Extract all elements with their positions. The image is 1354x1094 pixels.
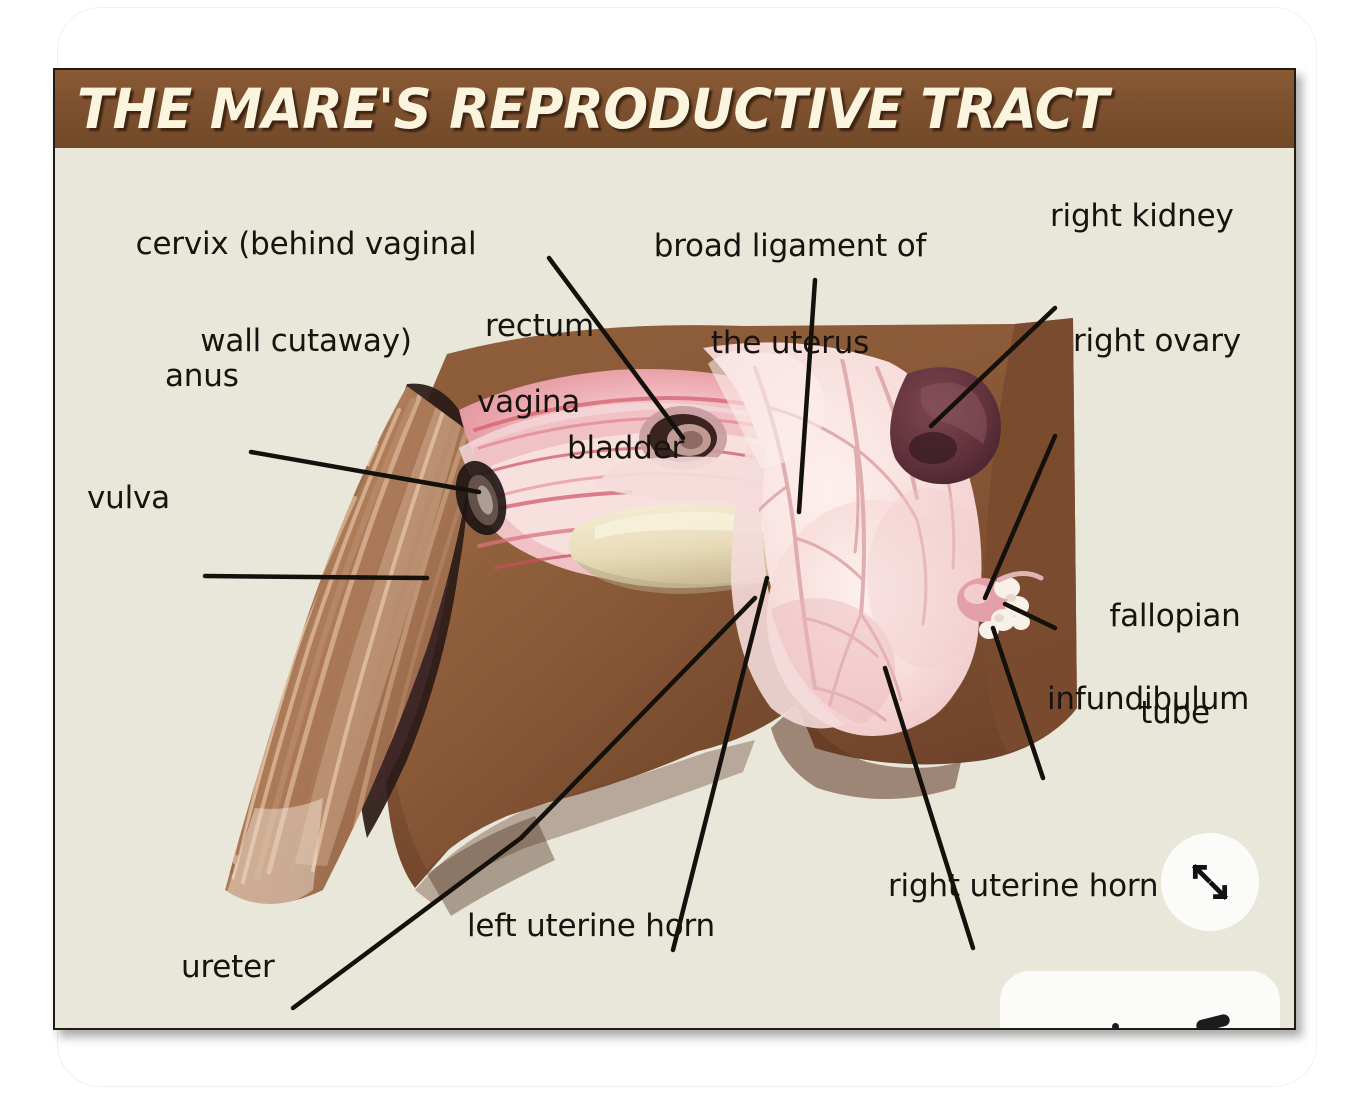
label-ureter: ureter	[181, 951, 275, 983]
label-anus: anus	[165, 360, 239, 392]
label-vagina: vagina	[477, 386, 580, 418]
label-vulva: vulva	[87, 482, 170, 514]
label-rectum: rectum	[485, 310, 594, 342]
label-cervix: cervix (behind vaginal wall cutaway)	[91, 164, 521, 422]
title-banner: THE MARE'S REPRODUCTIVE TRACT	[55, 70, 1294, 150]
label-fallopian-tube: fallopian tube	[1065, 536, 1285, 794]
label-infundibulum: infundibulum	[1047, 683, 1249, 715]
bottom-sheet-overlay[interactable]	[1000, 971, 1280, 1030]
screenshot-root: THE MARE'S REPRODUCTIVE TRACT	[0, 0, 1354, 1094]
label-broad-ligament: broad ligament of the uterus	[605, 166, 975, 424]
sheet-dot-mark	[1112, 1023, 1119, 1030]
fullscreen-button[interactable]	[1161, 833, 1259, 931]
page-title: THE MARE'S REPRODUCTIVE TRACT	[77, 77, 1109, 141]
sheet-dash-mark	[1195, 1013, 1231, 1030]
label-bladder: bladder	[567, 432, 684, 464]
diagram-panel: THE MARE'S REPRODUCTIVE TRACT	[53, 68, 1296, 1030]
expand-arrows-icon	[1188, 860, 1232, 904]
label-right-kidney: right kidney	[1050, 200, 1234, 232]
label-right-uterine-horn: right uterine horn	[888, 870, 1158, 902]
label-left-uterine-horn: left uterine horn	[467, 910, 715, 942]
label-right-ovary: right ovary	[1073, 325, 1241, 357]
